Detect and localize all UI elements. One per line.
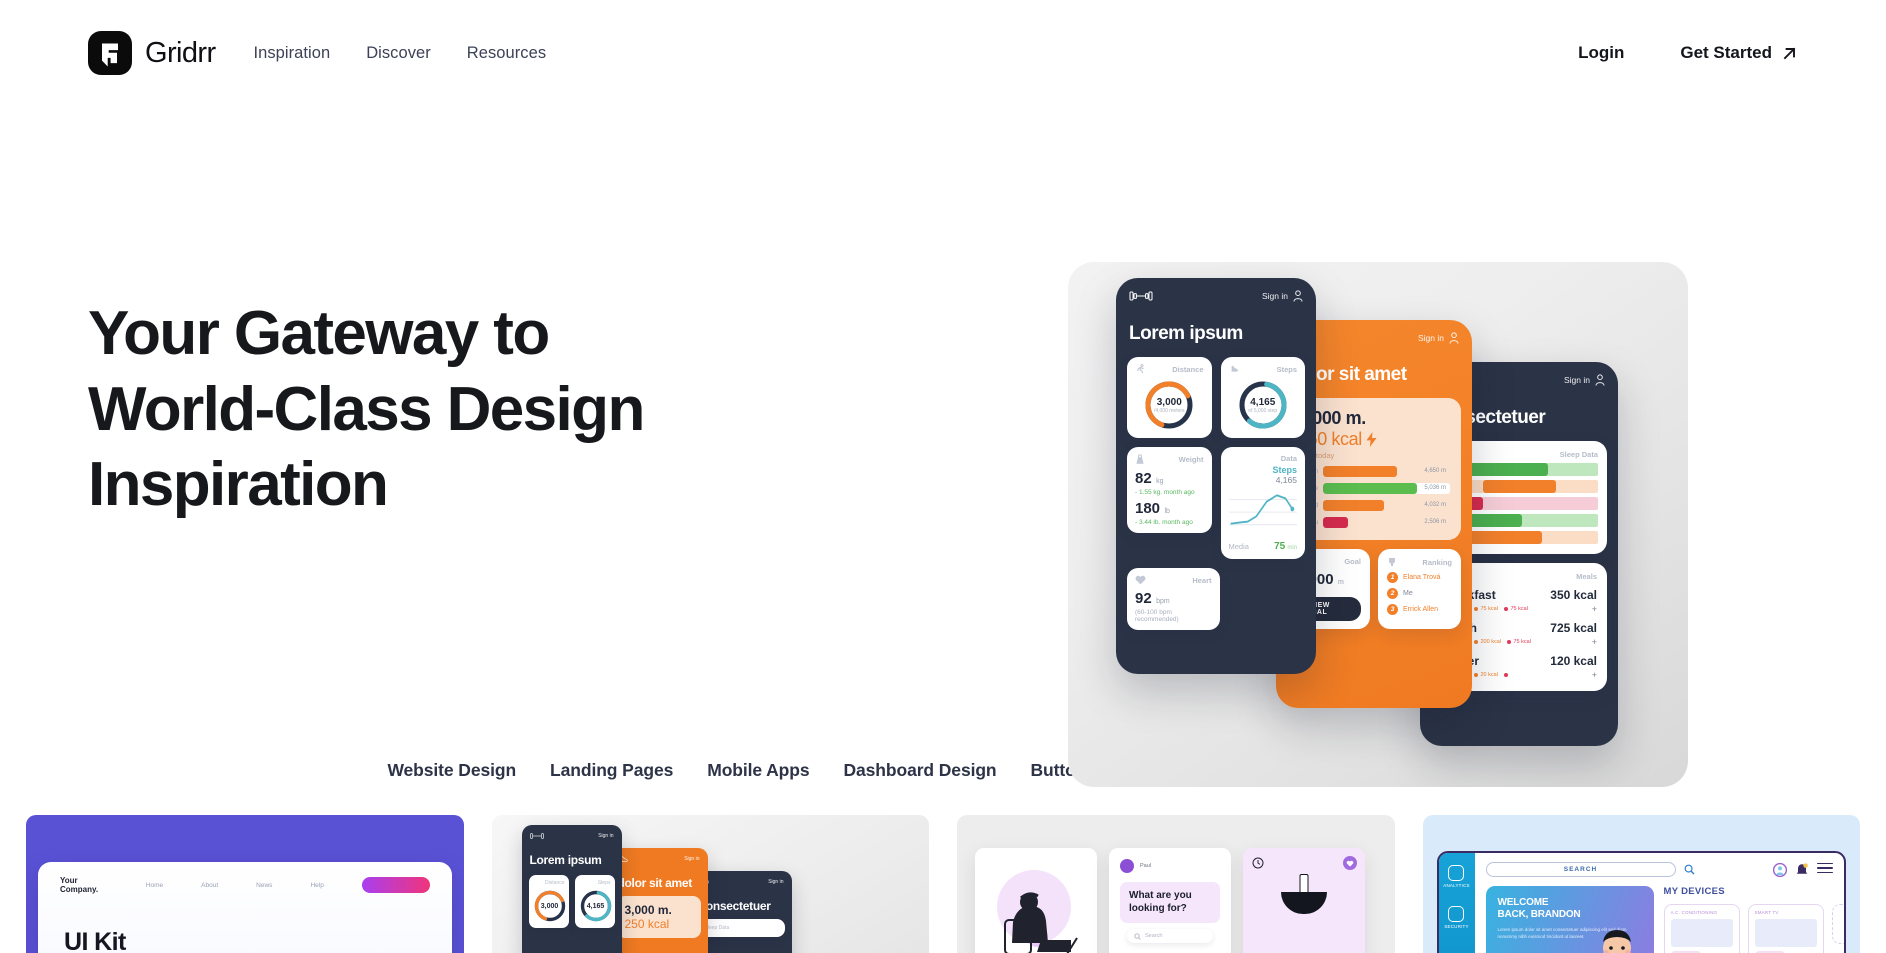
t1-brand: Your Company.: [60, 876, 108, 894]
meal-tag: 75 kcal: [1474, 606, 1498, 612]
thumbnail-fitness-app[interactable]: Sign in consectetuer Sleep Data Sign in …: [492, 815, 930, 953]
meal-tag: 75 kcal: [1507, 639, 1531, 645]
t3-author: Paul: [1140, 863, 1151, 869]
t4-app-frame: ANALYTICS SECURITY SEARCH: [1437, 851, 1847, 953]
ranking-card: Ranking 1 Elana Trová 2 Me 3 Errick Al: [1378, 549, 1461, 629]
category-website-design[interactable]: Website Design: [387, 760, 516, 781]
weight-lb-value: 180: [1135, 500, 1160, 517]
profile-badge-icon[interactable]: [1773, 863, 1787, 877]
sleep-data-label: Sleep Data: [1560, 450, 1598, 459]
header-actions: Login Get Started: [1578, 43, 1798, 63]
meal-tag: 200 kcal: [1474, 639, 1501, 645]
t1-link: Home: [146, 882, 163, 889]
t1-link: About: [201, 882, 218, 889]
weight-icon: [1135, 454, 1145, 465]
add-meal-button[interactable]: +: [1592, 670, 1597, 680]
phone2-signin[interactable]: Sign in: [1418, 332, 1459, 344]
t2-phone-dolor: Sign in dolor sit amet 3,000 m. 250 kcal: [610, 848, 708, 953]
t2-phone-lorem: Sign in Lorem ipsum Distance 3,000: [522, 825, 622, 953]
menu-icon[interactable]: [1817, 863, 1833, 877]
ranking-label: Ranking: [1422, 558, 1452, 567]
person-laptop-illustration: [975, 862, 1097, 953]
clock-icon: [1252, 857, 1264, 869]
category-dashboard-design[interactable]: Dashboard Design: [844, 760, 997, 781]
ranking-item: 2 Me: [1387, 588, 1452, 599]
person-avatar-illustration: [1586, 924, 1648, 953]
distance-value: 3,000: [1157, 397, 1182, 408]
weight-card: Weight 82 kg - 1.55 kg. month ago 180 lb…: [1127, 447, 1212, 533]
t4-devices-title: MY DEVICES: [1664, 886, 1834, 897]
user-icon: [1293, 290, 1303, 302]
site-header: Gridrr Inspiration Discover Resources Lo…: [0, 0, 1886, 106]
steps-unit: of 5,000 step: [1248, 408, 1277, 414]
trophy-icon: [1387, 557, 1397, 567]
distance-unit: /4,000 meters: [1154, 408, 1185, 414]
arrow-up-right-icon: [1781, 45, 1798, 62]
phone1-topbar: Sign in Lorem ipsum: [1116, 278, 1316, 345]
weekday-bar: Tue 5,036 m: [1298, 483, 1450, 494]
category-landing-pages[interactable]: Landing Pages: [550, 760, 673, 781]
get-started-button[interactable]: Get Started: [1680, 43, 1798, 63]
heart-note: (60-100 bpm recommended): [1135, 609, 1212, 623]
dumbbell-icon: [1129, 289, 1153, 303]
meal-tag: 75 kcal: [1504, 606, 1528, 612]
stats-today-label: stats today: [1298, 451, 1450, 460]
t1-link: News: [256, 882, 272, 889]
hero-title-line-2: World-Class Design: [88, 375, 644, 444]
data-series-value: 4,165: [1229, 475, 1298, 485]
lamp-shade-icon: [1281, 892, 1327, 914]
phone1-title: Lorem ipsum: [1129, 323, 1303, 345]
distance-card: Distance 3,000 /4,000 meters: [1127, 357, 1212, 438]
t2-phone2-title: dolor sit amet: [618, 876, 700, 890]
t3-question: What are you looking for?: [1120, 882, 1220, 923]
t4-sidebar: ANALYTICS SECURITY: [1439, 853, 1475, 953]
t2-phone3-title: consectetuer: [700, 899, 784, 913]
t4-device-card[interactable]: SMART TV SMART: [1748, 904, 1824, 953]
hero-section: Your Gateway to World-Class Design Inspi…: [0, 106, 1886, 746]
bolt-icon: [1366, 432, 1377, 447]
heart-card: Heart 92 bpm (60-100 bpm recommended): [1127, 568, 1220, 630]
brand-logo[interactable]: Gridrr: [88, 31, 216, 75]
steps-card: Steps 4,165 of 5,000 step: [1221, 357, 1306, 438]
sidebar-item-analytics[interactable]: ANALYTICS: [1443, 865, 1469, 888]
t2-kcal: 250 kcal: [625, 917, 693, 931]
weekday-bar: Mon 4,650 m: [1298, 466, 1450, 477]
t1-title: UI Kit: [64, 928, 126, 953]
t2-phone3-signin: Sign in: [768, 879, 783, 885]
t2-phone1-title: Lorem ipsum: [530, 853, 614, 867]
t3-search-input[interactable]: Search: [1127, 929, 1213, 943]
t4-search-input[interactable]: SEARCH: [1486, 862, 1676, 877]
nav-item-resources[interactable]: Resources: [467, 44, 546, 63]
hero-title-line-1: Your Gateway to: [88, 299, 549, 368]
running-icon: [1135, 364, 1145, 374]
hero-title-line-3: Inspiration: [88, 450, 387, 519]
t4-main: SEARCH: [1475, 853, 1845, 953]
phone1-signin[interactable]: Sign in: [1262, 290, 1303, 302]
main-nav: Inspiration Discover Resources: [254, 44, 547, 63]
distance-total: 3,000 m.: [1298, 408, 1450, 429]
ranking-item: 1 Elana Trová: [1387, 572, 1452, 583]
t4-welcome-line2: BACK, BRANDON: [1498, 909, 1581, 920]
t2-phone1-signin: Sign in: [598, 833, 613, 839]
t3-card-illustration: [975, 848, 1097, 953]
t2-peach-card: 3,000 m. 250 kcal: [617, 896, 701, 938]
weight-label: Weight: [1179, 455, 1204, 464]
user-icon: [1595, 374, 1605, 386]
weight-kg-note: - 1.55 kg. month ago: [1135, 489, 1204, 496]
phone3-signin[interactable]: Sign in: [1564, 374, 1605, 386]
t1-cta-button: [362, 877, 430, 893]
heart-icon: [1135, 575, 1146, 585]
data-series-name: Steps: [1229, 465, 1298, 475]
ranking-item: 3 Errick Allen: [1387, 604, 1452, 615]
media-value: 75: [1274, 541, 1285, 552]
hero-copy: Your Gateway to World-Class Design Inspi…: [88, 106, 848, 523]
lamp-stem: [1300, 874, 1309, 894]
meal-tag: [1504, 673, 1508, 677]
meals-label: Meals: [1576, 572, 1597, 581]
nav-item-inspiration[interactable]: Inspiration: [254, 44, 331, 63]
t3-card-question: Paul What are you looking for? Search: [1109, 848, 1231, 953]
meal-kcal: 725 kcal: [1550, 621, 1597, 635]
t1-window: Your Company. Home About News Help UI Ki…: [38, 862, 452, 953]
thumbnail-ui-kit[interactable]: Your Company. Home About News Help UI Ki…: [26, 815, 464, 953]
weight-lb-note: - 3.44 lb. month ago: [1135, 519, 1204, 526]
dumbbell-icon: [530, 832, 544, 840]
t3-card-workspace: [1243, 848, 1365, 953]
tv-icon: [1755, 919, 1817, 947]
meal-tag: 20 kcal: [1474, 672, 1498, 678]
data-card: Data Steps 4,165 M: [1221, 447, 1306, 559]
t2-sleep-card: Sleep Data: [699, 919, 785, 937]
category-mobile-apps[interactable]: Mobile Apps: [707, 760, 809, 781]
media-label: Media: [1229, 542, 1249, 551]
chart-icon: [1448, 865, 1464, 881]
data-label: Data: [1281, 454, 1297, 463]
mockup-phone-lorem-ipsum: Sign in Lorem ipsum: [1116, 278, 1316, 674]
gridrr-logo-icon: [88, 31, 132, 75]
t2-meters: 3,000 m.: [625, 903, 693, 917]
heart-unit: bpm: [1156, 598, 1170, 605]
distance-label: Distance: [1172, 365, 1203, 374]
ac-unit-icon: [1671, 919, 1733, 947]
kcal-total: 250 kcal: [1298, 429, 1450, 450]
t4-add-device-button[interactable]: +ADD: [1832, 904, 1847, 944]
desk-illustration: [1243, 949, 1365, 953]
page-title: Your Gateway to World-Class Design Inspi…: [88, 296, 848, 523]
heart-badge-icon: [1343, 856, 1357, 870]
add-meal-button[interactable]: +: [1592, 637, 1597, 647]
media-unit: min: [1287, 545, 1297, 551]
t4-welcome-card: WELCOME BACK, BRANDON Lorem ipsum dolor …: [1486, 886, 1654, 953]
t4-devices: MY DEVICES A.C. CONDITIONING ON SMART TV…: [1664, 886, 1834, 953]
phone1-body: Distance 3,000 /4,000 meters: [1116, 345, 1316, 642]
hero-artwork: Sign in consectetuer Sleep Data Mon Tue …: [1068, 262, 1688, 787]
goal-unit: m: [1338, 579, 1344, 586]
weight-lb-unit: lb: [1164, 508, 1169, 515]
goal-label: Goal: [1344, 557, 1361, 566]
weekday-bar: Wed 4,032 m: [1298, 500, 1450, 511]
avatar: [1120, 859, 1134, 873]
add-meal-button[interactable]: +: [1592, 604, 1597, 614]
steps-label: Steps: [1277, 365, 1297, 374]
t4-welcome-line1: WELCOME: [1498, 897, 1549, 908]
weekday-bar: Thu 2,506 m: [1298, 517, 1450, 528]
get-started-label: Get Started: [1680, 43, 1772, 63]
sidebar-item-security[interactable]: SECURITY: [1444, 906, 1468, 929]
brand-name: Gridrr: [145, 37, 216, 70]
search-icon[interactable]: [1684, 864, 1695, 875]
thumbnail-illustration-set[interactable]: Paul What are you looking for? Search: [957, 815, 1395, 953]
user-icon: [1449, 332, 1459, 344]
weight-kg-value: 82: [1135, 470, 1152, 487]
t4-device-card[interactable]: A.C. CONDITIONING ON: [1664, 904, 1740, 953]
shoe-icon: [1229, 364, 1239, 374]
nav-item-discover[interactable]: Discover: [366, 44, 431, 63]
steps-sparkline: [1229, 489, 1298, 531]
bell-icon[interactable]: [1796, 863, 1808, 877]
weight-kg-unit: kg: [1156, 478, 1163, 485]
t2-distance-card: Distance 3,000: [529, 875, 569, 928]
heart-label: Heart: [1192, 576, 1211, 585]
heart-value: 92: [1135, 590, 1152, 607]
t1-link: Help: [310, 882, 323, 889]
distance-donut: 3,000 /4,000 meters: [1143, 379, 1195, 431]
meal-kcal: 350 kcal: [1550, 588, 1597, 602]
inspiration-grid: Your Company. Home About News Help UI Ki…: [0, 781, 1886, 953]
steps-donut: 4,165 of 5,000 step: [1237, 379, 1289, 431]
steps-value: 4,165: [1250, 397, 1275, 408]
shield-icon: [1448, 906, 1464, 922]
search-icon: [1134, 933, 1141, 940]
login-button[interactable]: Login: [1578, 43, 1624, 63]
meal-kcal: 120 kcal: [1550, 654, 1597, 668]
thumbnail-smart-home-dashboard[interactable]: ANALYTICS SECURITY SEARCH: [1423, 815, 1861, 953]
t2-phone2-signin: Sign in: [684, 856, 699, 862]
t2-steps-card: Steps 4,165: [575, 875, 615, 928]
